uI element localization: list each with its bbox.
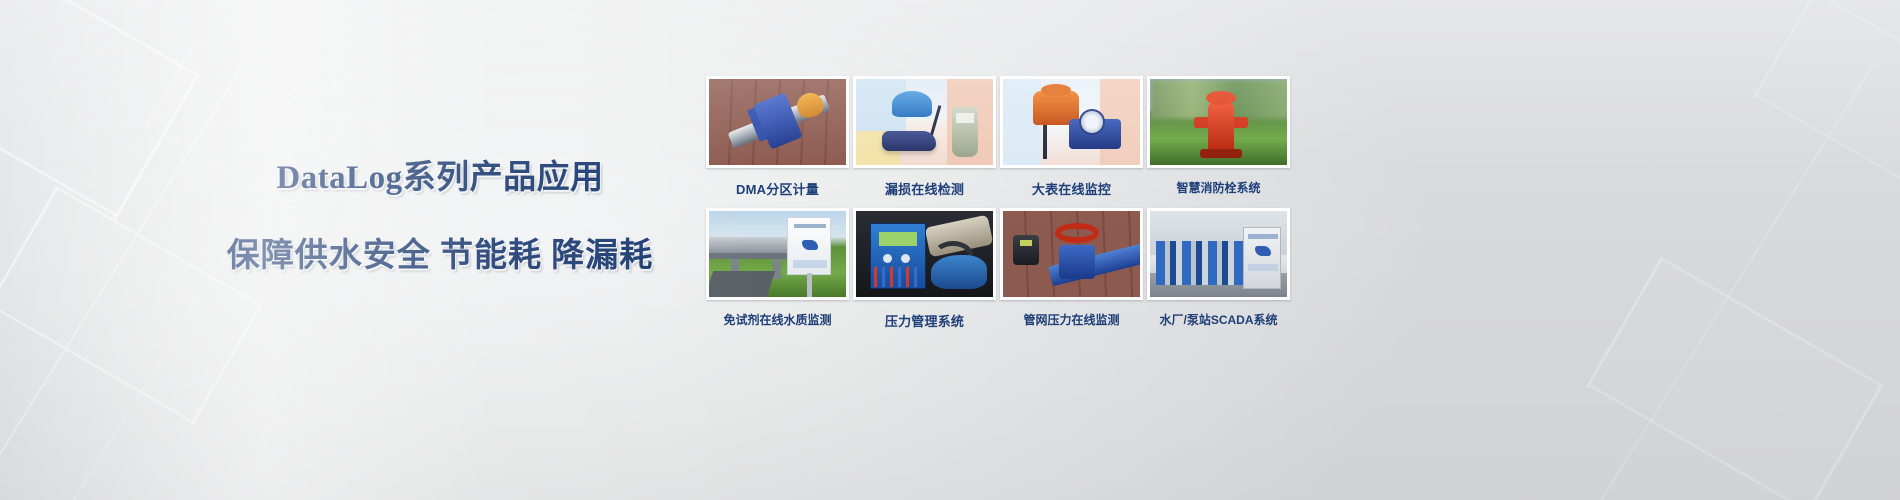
diagonal-line-decoration (1600, 59, 1877, 500)
product-caption: 大表在线监控 (1000, 179, 1143, 198)
leak-online-detection-photo (856, 79, 993, 165)
diagonal-line-decoration (0, 59, 247, 500)
waterworks-scada-photo (1150, 211, 1287, 297)
product-application-banner: DataLog系列产品应用 保障供水安全 节能耗 降漏耗 DMA分区计量 漏损在… (0, 0, 1900, 500)
product-caption: 智慧消防栓系统 (1147, 179, 1290, 196)
product-thumbnail[interactable] (1000, 208, 1143, 300)
product-caption: DMA分区计量 (706, 179, 849, 198)
pipe-network-pressure-photo (1003, 211, 1140, 297)
product-thumbnail-grid: DMA分区计量 漏损在线检测 大表在线监控 (706, 76, 1290, 330)
hexagon-icon (1587, 257, 1883, 500)
reagent-free-water-quality-photo (709, 211, 846, 297)
pressure-management-photo (856, 211, 993, 297)
product-card-large-meter-monitoring[interactable]: 大表在线监控 (1000, 76, 1143, 198)
product-caption: 免试剂在线水质监测 (706, 311, 849, 328)
product-card-waterworks-scada[interactable]: 水厂/泵站SCADA系统 (1147, 208, 1290, 330)
product-card-smart-fire-hydrant[interactable]: 智慧消防栓系统 (1147, 76, 1290, 198)
dma-zone-metering-photo (709, 79, 846, 165)
large-meter-monitoring-photo (1003, 79, 1140, 165)
product-thumbnail[interactable] (1147, 208, 1290, 300)
product-thumbnail[interactable] (853, 76, 996, 168)
smart-fire-hydrant-photo (1150, 79, 1287, 165)
product-caption: 水厂/泵站SCADA系统 (1147, 311, 1290, 328)
product-card-pressure-management[interactable]: 压力管理系统 (853, 208, 996, 330)
product-thumbnail[interactable] (853, 208, 996, 300)
headline-secondary: 保障供水安全 节能耗 降漏耗 (180, 228, 700, 276)
product-thumbnail[interactable] (1000, 76, 1143, 168)
product-caption: 漏损在线检测 (853, 179, 996, 198)
product-card-leak-online-detection[interactable]: 漏损在线检测 (853, 76, 996, 198)
product-card-pipe-network-pressure[interactable]: 管网压力在线监测 (1000, 208, 1143, 330)
diagonal-line-decoration (60, 79, 337, 500)
product-card-reagent-free-water-quality[interactable]: 免试剂在线水质监测 (706, 208, 849, 330)
hexagon-icon (0, 0, 200, 218)
product-thumbnail[interactable] (706, 208, 849, 300)
product-caption: 管网压力在线监测 (1000, 311, 1143, 328)
product-thumbnail[interactable] (706, 76, 849, 168)
banner-headline-block: DataLog系列产品应用 保障供水安全 节能耗 降漏耗 (180, 150, 700, 276)
product-thumbnail[interactable] (1147, 76, 1290, 168)
headline-primary: DataLog系列产品应用 (180, 150, 700, 198)
product-card-dma-zone-metering[interactable]: DMA分区计量 (706, 76, 849, 198)
hexagon-icon (1754, 0, 1900, 200)
product-caption: 压力管理系统 (853, 311, 996, 330)
